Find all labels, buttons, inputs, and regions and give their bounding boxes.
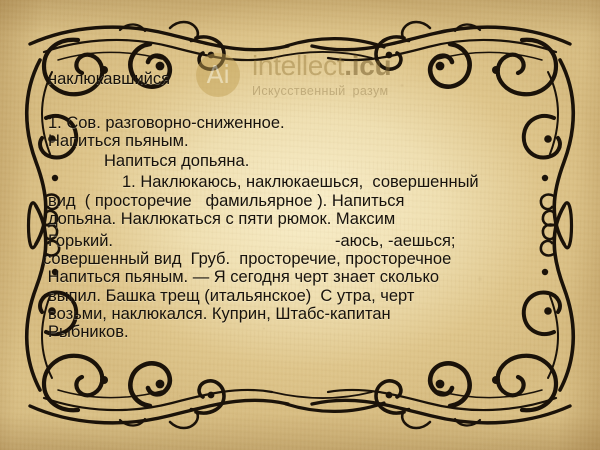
entry-line: допьяна. Наклюкаться с пяти рюмок. Макси…	[48, 210, 395, 228]
entry-line: Напиться допьяна.	[104, 152, 249, 170]
entry-line: Напиться пьяным. — Я сегодня черт знает …	[43, 268, 439, 286]
entry-line: Напиться пьяным.	[48, 132, 189, 150]
entry-line: 1. Наклюкаюсь, наклюкаешься, совершенный	[122, 173, 479, 191]
entry-line: -аюсь, -аешься;	[335, 232, 456, 250]
entry-line: вид ( просторечие фамильярное ). Напитьс…	[48, 192, 404, 210]
entry-line: Горький.	[48, 232, 113, 250]
entry-headword: наклюкавшийся	[48, 70, 170, 88]
dictionary-entry: наклюкавшийся 1. Сов. разговорно-сниженн…	[0, 0, 600, 450]
entry-line: совершенный вид Груб. просторечие, прост…	[43, 250, 451, 268]
entry-line: Рыбников.	[48, 323, 129, 341]
entry-line: 1. Сов. разговорно-сниженное.	[48, 114, 285, 132]
entry-line: возьми, наклюкался. Куприн, Штабс-капита…	[48, 305, 391, 323]
entry-line: выпил. Башка трещ (итальянское) С утра, …	[48, 287, 414, 305]
parchment-page: Ai intellect.icu Искусственный разум нак…	[0, 0, 600, 450]
